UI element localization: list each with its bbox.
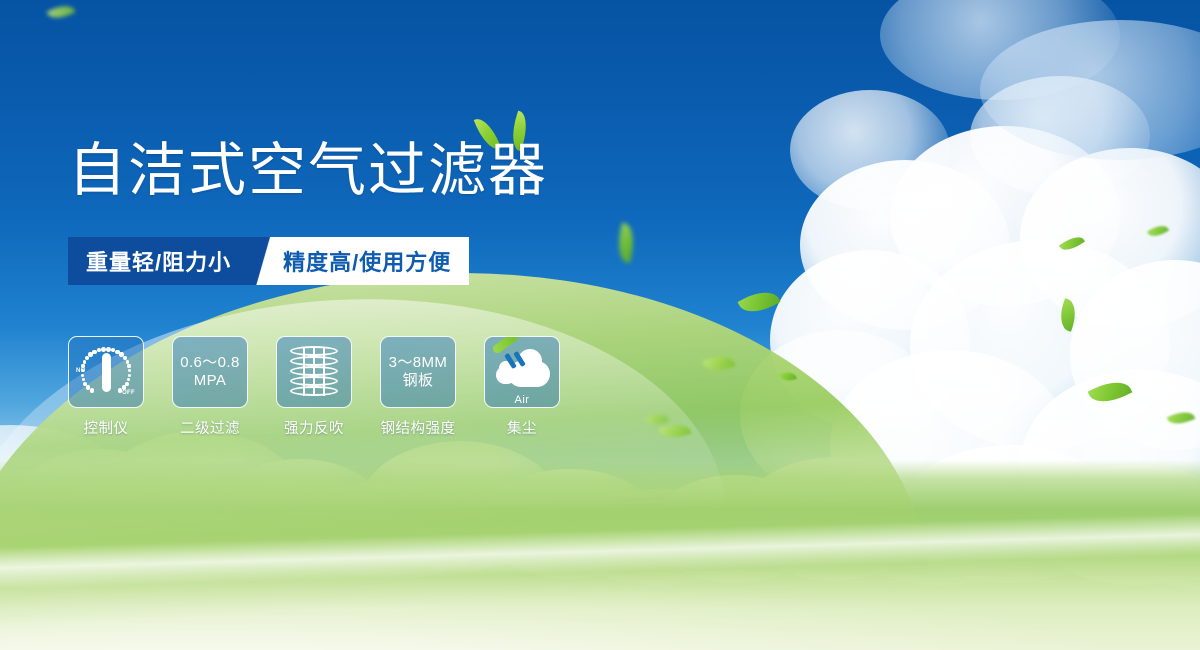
leaf-floating	[47, 1, 76, 23]
leaf-floating	[1088, 374, 1133, 410]
gauge-tick-dot	[118, 388, 122, 392]
leaf-floating	[1056, 298, 1080, 331]
spring-coil-icon	[290, 344, 338, 400]
subtitle-secondary: 精度高/使用方便	[277, 237, 469, 285]
air-cloud-icon: Air	[494, 351, 550, 391]
feature-icon-box	[276, 336, 352, 408]
gauge-tick-dot	[81, 374, 84, 377]
gauge-tick-dot	[81, 369, 84, 372]
leaf-floating	[738, 284, 781, 319]
gauge-tick-dot	[81, 364, 84, 367]
steel-thickness: 3～8MM	[389, 354, 448, 372]
gauge-needle	[102, 353, 111, 392]
page-title: 自洁式空气过滤器	[68, 140, 548, 201]
gauge-off-label: OFF	[122, 390, 135, 396]
gauge-icon: NO OFF	[77, 344, 135, 400]
feature-icon-box: 0.6～0.8 MPA	[172, 336, 248, 408]
gauge-tick-dot	[83, 360, 87, 364]
leaf-floating	[614, 223, 638, 263]
gauge-tick-dot	[122, 385, 126, 389]
feature-label: 集尘	[507, 417, 537, 438]
feature-label: 钢结构强度	[381, 417, 456, 438]
feature-icon-box: Air	[484, 336, 560, 408]
gauge-tick-dot	[128, 369, 131, 372]
pressure-unit: MPA	[180, 372, 240, 390]
feature-icon-box: 3～8MM 钢板	[380, 336, 456, 408]
subtitle-primary: 重量轻/阻力小	[68, 237, 251, 285]
leaf-floating	[1059, 232, 1085, 255]
subtitle-divider-wedge	[251, 237, 277, 285]
gauge-tick-dot	[127, 378, 131, 382]
grass-field	[0, 460, 1200, 650]
feature-item-back-blow[interactable]: 强力反吹	[276, 336, 352, 438]
air-label: Air	[494, 394, 550, 406]
feature-label: 强力反吹	[284, 417, 344, 438]
feature-item-control-gauge[interactable]: NO OFF 控制仪	[68, 336, 144, 438]
feature-item-dust-collection[interactable]: Air 集尘	[484, 336, 560, 438]
subtitle-bar: 重量轻/阻力小 精度高/使用方便	[68, 237, 469, 285]
gauge-tick-dot	[82, 378, 86, 382]
feature-item-two-stage-filter[interactable]: 0.6～0.8 MPA 二级过滤	[172, 336, 248, 438]
feature-label: 控制仪	[84, 417, 129, 438]
gauge-tick-dot	[127, 364, 130, 367]
leaf-floating	[1147, 222, 1169, 241]
steel-material: 钢板	[389, 372, 448, 390]
gauge-tick-dot	[90, 388, 94, 392]
gauge-tick-dot	[128, 374, 131, 377]
steel-text-icon: 3～8MM 钢板	[389, 354, 448, 389]
leaf-floating	[1167, 408, 1196, 429]
feature-item-steel-strength[interactable]: 3～8MM 钢板 钢结构强度	[380, 336, 456, 438]
feature-label: 二级过滤	[180, 417, 240, 438]
feature-list: NO OFF 控制仪 0.6～0.8 MPA 二级过滤	[68, 336, 560, 438]
banner-stage: 自洁式空气过滤器 重量轻/阻力小 精度高/使用方便 NO OFF 控制仪 0.6…	[0, 0, 1200, 650]
gauge-tick-dot	[126, 360, 130, 364]
pressure-value: 0.6～0.8	[180, 354, 240, 372]
pressure-text-icon: 0.6～0.8 MPA	[180, 354, 240, 389]
feature-icon-box: NO OFF	[68, 336, 144, 408]
